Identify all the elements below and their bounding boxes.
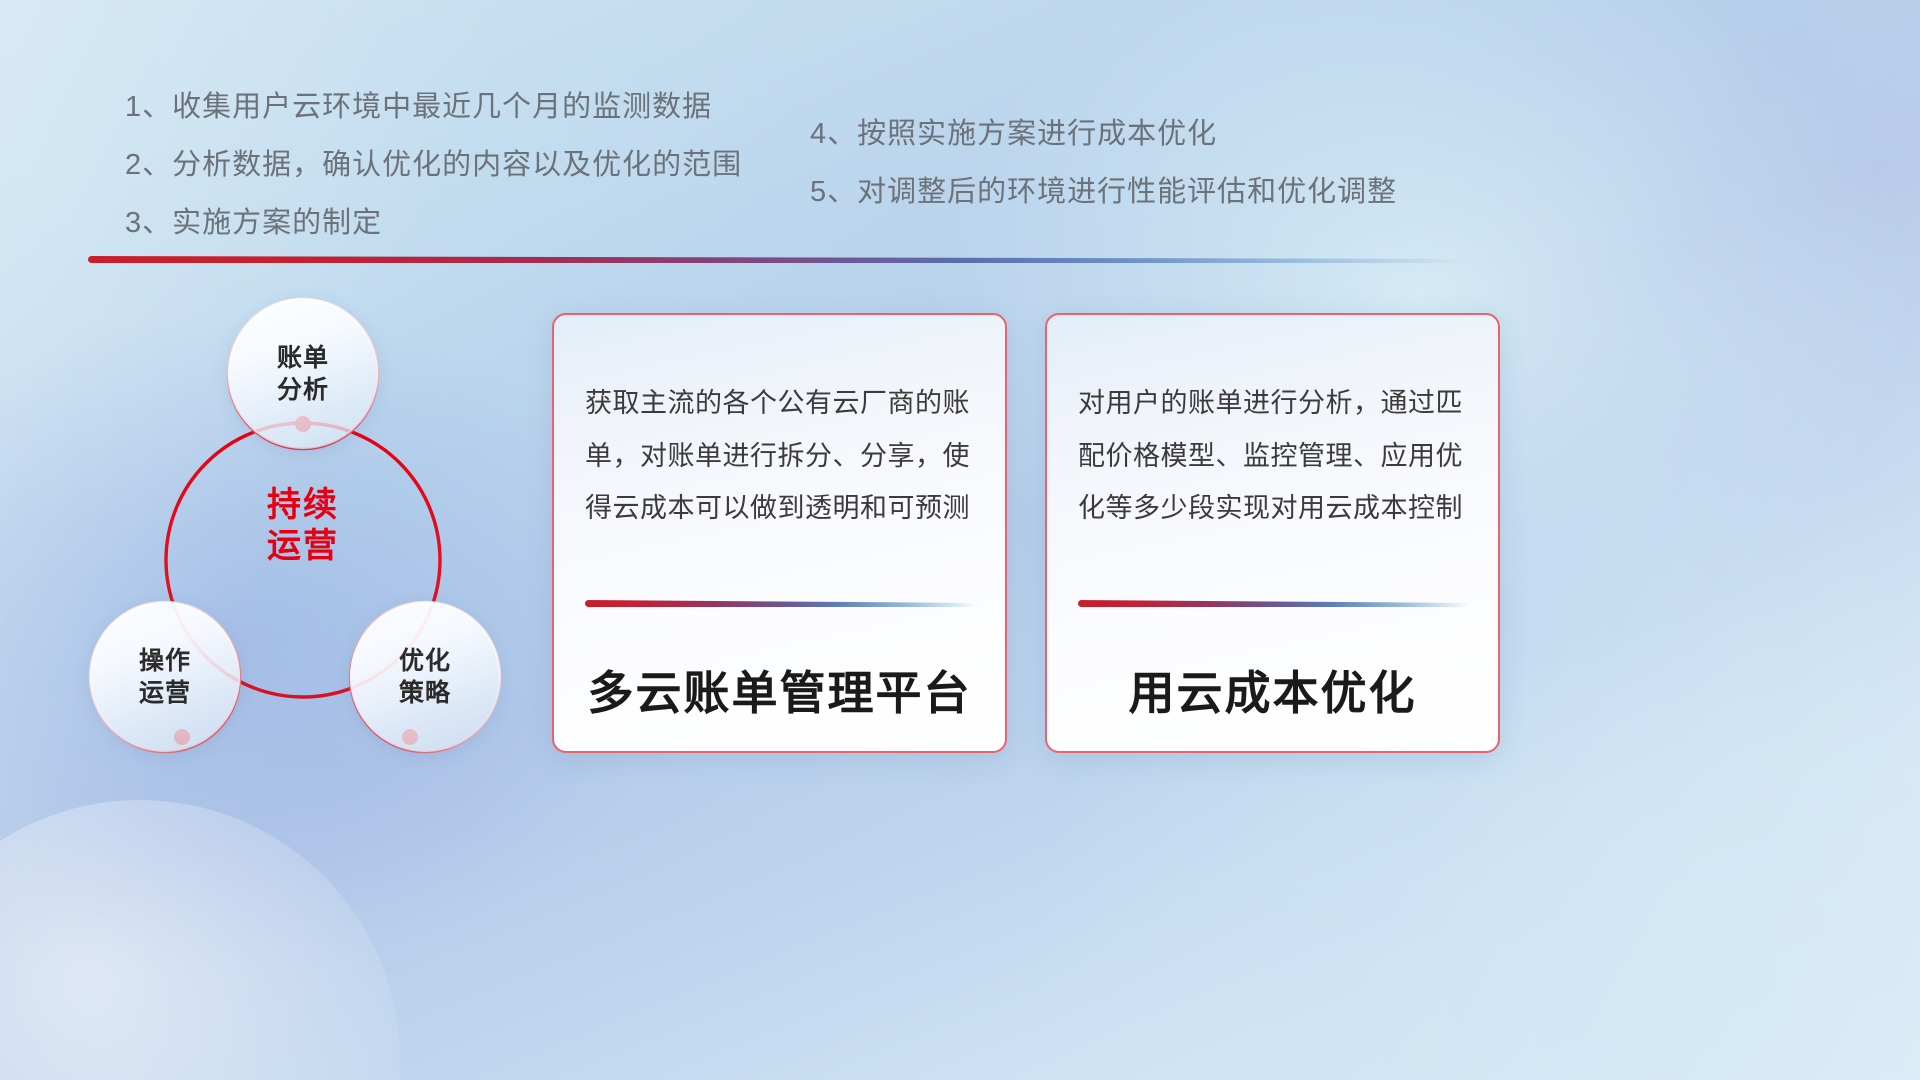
bubble-label-line1: 优化 xyxy=(399,645,451,677)
card-multi-cloud-bill-platform[interactable]: 获取主流的各个公有云厂商的账单，对账单进行拆分、分享，使得云成本可以做到透明和可… xyxy=(552,313,1007,753)
bubble-label-line1: 操作 xyxy=(139,645,191,677)
diagram-bubble-operation[interactable]: 操作 运营 xyxy=(90,602,240,752)
bubble-label-line1: 账单 xyxy=(277,342,329,374)
card-divider xyxy=(1078,600,1470,607)
section-divider xyxy=(88,256,1506,263)
center-label-line1: 持续 xyxy=(228,485,378,526)
decorative-arc xyxy=(0,800,400,1080)
steps-left-column: 1、收集用户云环境中最近几个月的监测数据 2、分析数据，确认优化的内容以及优化的… xyxy=(125,93,742,267)
center-label-line2: 运营 xyxy=(228,526,378,567)
step-item-1: 1、收集用户云环境中最近几个月的监测数据 xyxy=(125,93,742,122)
card-body-text: 对用户的账单进行分析，通过匹配价格模型、监控管理、应用优化等多少段实现对用云成本… xyxy=(1078,377,1472,535)
step-item-3: 3、实施方案的制定 xyxy=(125,209,742,238)
step-item-5: 5、对调整后的环境进行性能评估和优化调整 xyxy=(810,178,1397,207)
continuous-operation-diagram: 账单 分析 操作 运营 优化 策略 持续 运营 xyxy=(70,285,550,785)
bubble-label-line2: 分析 xyxy=(277,374,329,406)
bubble-label-line2: 策略 xyxy=(399,677,451,709)
card-divider xyxy=(585,600,977,607)
diagram-bubble-optimization-strategy[interactable]: 优化 策略 xyxy=(350,602,500,752)
diagram-center-label: 持续 运营 xyxy=(228,485,378,568)
card-title: 多云账单管理平台 xyxy=(554,657,1005,723)
card-title: 用云成本优化 xyxy=(1047,657,1498,723)
steps-right-column: 4、按照实施方案进行成本优化 5、对调整后的环境进行性能评估和优化调整 xyxy=(810,120,1397,236)
step-item-2: 2、分析数据，确认优化的内容以及优化的范围 xyxy=(125,151,742,180)
slide-canvas: 1、收集用户云环境中最近几个月的监测数据 2、分析数据，确认优化的内容以及优化的… xyxy=(0,0,1920,1080)
bubble-label-line2: 运营 xyxy=(139,677,191,709)
card-body-text: 获取主流的各个公有云厂商的账单，对账单进行拆分、分享，使得云成本可以做到透明和可… xyxy=(585,377,979,535)
card-cloud-cost-optimization[interactable]: 对用户的账单进行分析，通过匹配价格模型、监控管理、应用优化等多少段实现对用云成本… xyxy=(1045,313,1500,753)
diagram-bubble-bill-analysis[interactable]: 账单 分析 xyxy=(228,299,378,449)
step-item-4: 4、按照实施方案进行成本优化 xyxy=(810,120,1397,149)
